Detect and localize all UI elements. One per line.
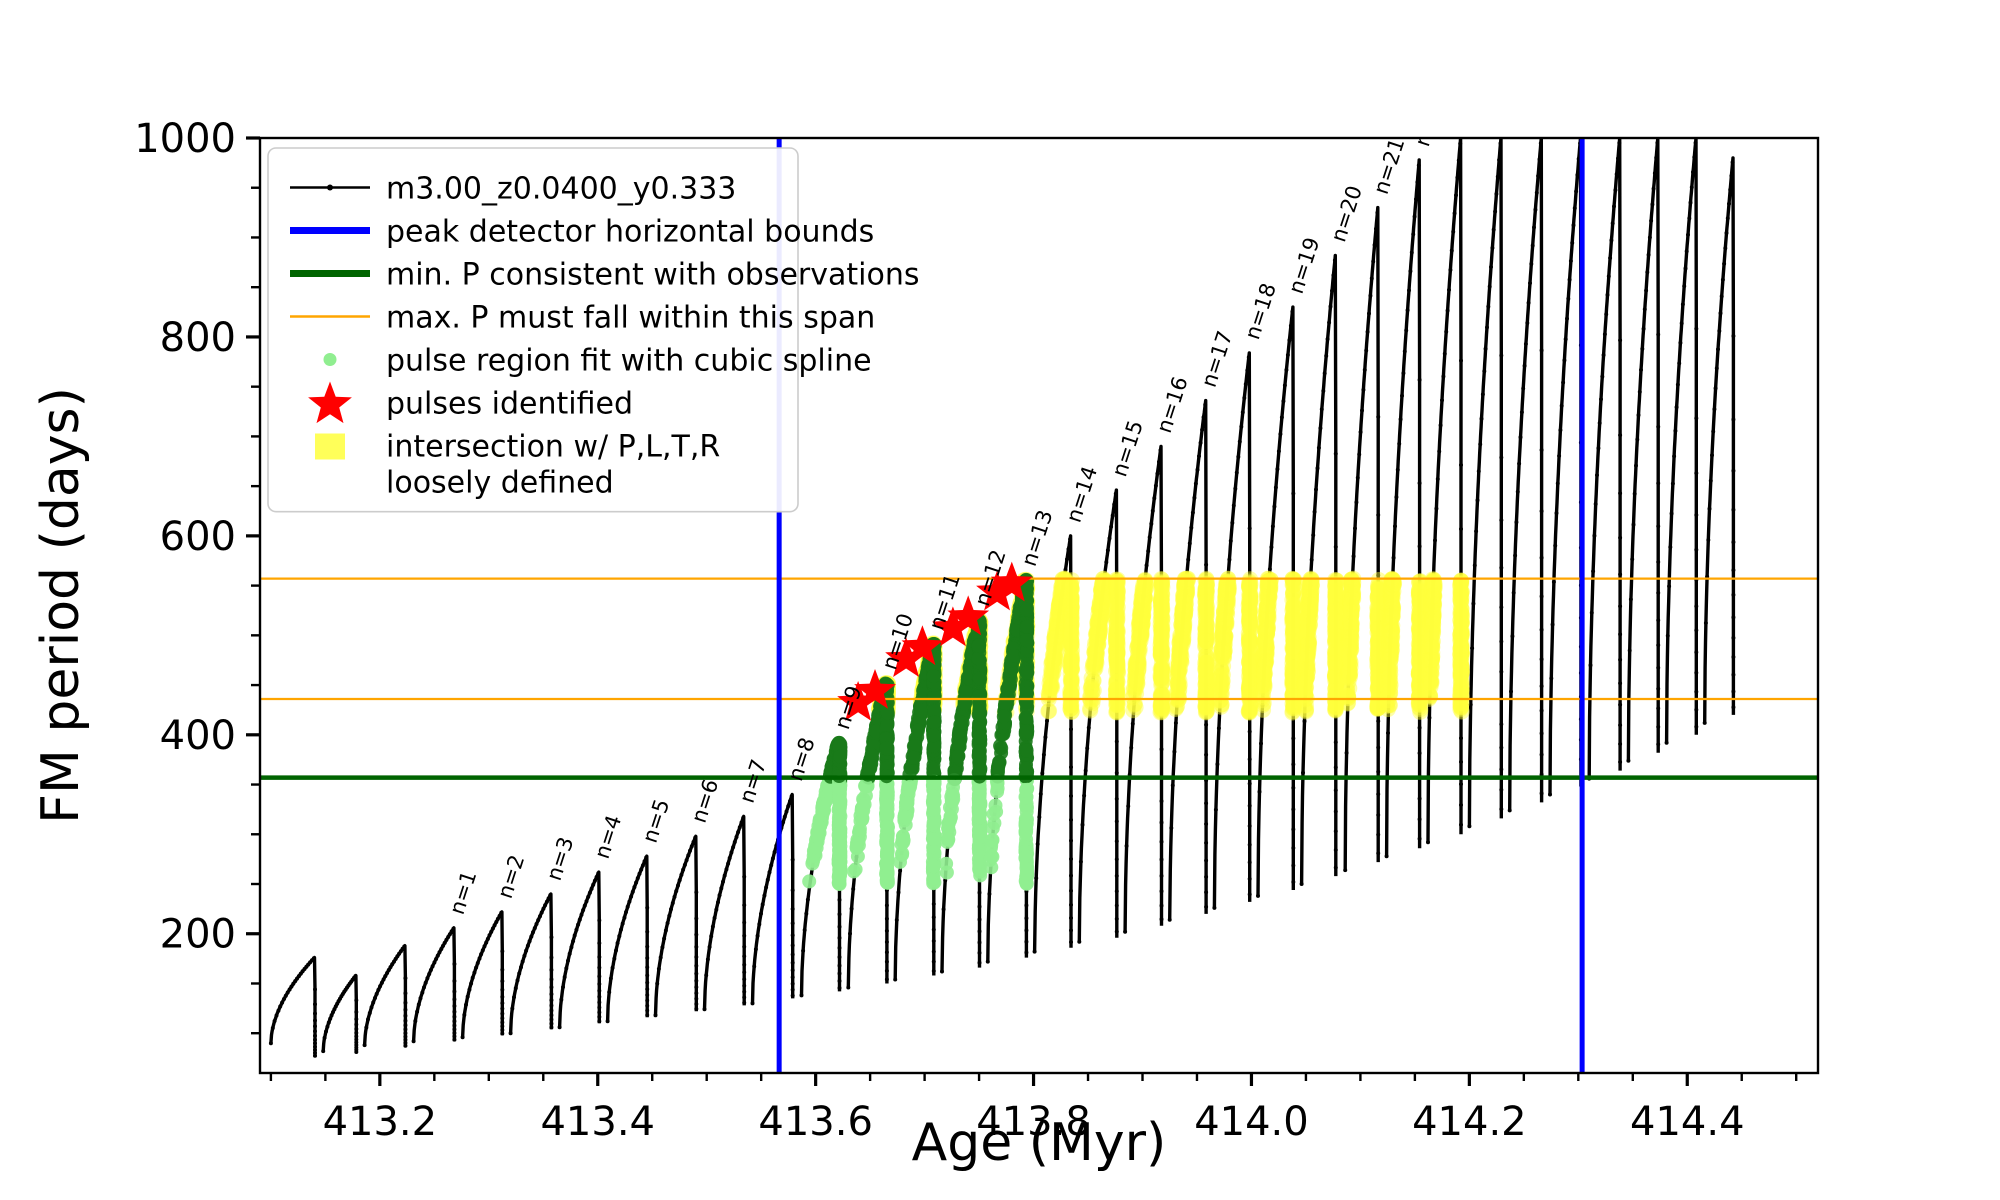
track-marker (1512, 591, 1516, 595)
track-marker (742, 875, 746, 879)
track-marker (1115, 889, 1119, 893)
track-marker (1418, 751, 1422, 755)
track-marker (452, 1019, 456, 1023)
track-marker (1248, 860, 1252, 864)
track-marker (549, 935, 553, 939)
track-marker (1410, 251, 1414, 255)
track-marker (1499, 640, 1503, 644)
track-marker (1069, 889, 1073, 893)
track-marker (1536, 174, 1540, 178)
track-marker (1499, 605, 1503, 609)
track-marker (1459, 527, 1463, 531)
track-marker (1656, 618, 1660, 622)
track-marker (1649, 219, 1653, 223)
track-marker (838, 946, 842, 950)
track-marker (1248, 757, 1252, 761)
track-marker (703, 1007, 707, 1011)
track-marker (1569, 259, 1573, 263)
track-marker (1363, 368, 1367, 372)
track-marker (1721, 278, 1725, 282)
yellow-point (1108, 693, 1124, 709)
track-marker (1609, 238, 1613, 242)
track-marker (1551, 623, 1555, 627)
track-marker (1716, 347, 1720, 351)
track-marker (1248, 804, 1252, 808)
track-marker (1275, 467, 1279, 471)
track-marker (1291, 786, 1295, 790)
track-marker (452, 1004, 456, 1008)
track-marker (622, 916, 626, 920)
track-marker (1731, 655, 1735, 659)
track-marker (768, 870, 772, 874)
track-marker (1618, 572, 1622, 576)
track-marker (1393, 524, 1397, 528)
track-marker (1188, 541, 1192, 545)
track-marker (271, 1026, 275, 1030)
track-marker (1354, 500, 1358, 504)
track-marker (417, 1003, 421, 1007)
track-marker (535, 922, 539, 926)
track-marker (1191, 511, 1195, 515)
yellow-point (1298, 638, 1314, 654)
track-marker (932, 902, 936, 906)
track-marker (1656, 706, 1660, 710)
track-marker (752, 964, 756, 968)
track-marker (313, 987, 317, 991)
track-marker (655, 982, 659, 986)
track-marker (538, 914, 542, 918)
track-marker (1376, 513, 1380, 517)
track-marker (1123, 930, 1127, 934)
track-marker (838, 912, 842, 916)
track-marker (1281, 399, 1285, 403)
yellow-point (1303, 574, 1319, 590)
track-marker (1331, 273, 1335, 277)
track-marker (1652, 187, 1656, 191)
track-marker (1343, 868, 1347, 872)
track-marker (791, 975, 795, 979)
track-marker (533, 926, 537, 930)
track-marker (1427, 716, 1431, 720)
track-marker (403, 991, 407, 995)
track-marker (1694, 513, 1698, 517)
track-marker (452, 962, 456, 966)
track-marker (1451, 230, 1455, 234)
track-marker (1540, 657, 1544, 661)
track-marker (1731, 160, 1735, 164)
track-marker (1259, 742, 1263, 746)
track-marker (1278, 432, 1282, 436)
track-marker (1499, 788, 1503, 792)
track-marker (1499, 767, 1503, 771)
track-marker (427, 972, 431, 976)
track-marker (1145, 563, 1149, 567)
track-marker (1540, 448, 1544, 452)
track-marker (1194, 482, 1198, 486)
track-marker (790, 794, 794, 798)
track-marker (643, 859, 647, 863)
track-marker (1440, 398, 1444, 402)
yellow-point (1045, 654, 1061, 670)
track-marker (1370, 276, 1374, 280)
track-marker (476, 961, 480, 965)
track-marker (1043, 735, 1047, 739)
track-marker (706, 957, 710, 961)
track-marker (1618, 658, 1622, 662)
track-marker (1459, 359, 1463, 363)
yellow-point (1342, 586, 1358, 602)
track-marker (1069, 857, 1073, 861)
track-marker (517, 972, 521, 976)
track-marker (838, 898, 842, 902)
track-marker (617, 934, 621, 938)
track-marker (1656, 643, 1660, 647)
track-marker (740, 821, 744, 825)
track-marker (1490, 246, 1494, 250)
track-marker (1533, 208, 1537, 212)
track-marker (1160, 889, 1164, 893)
track-marker (466, 995, 470, 999)
track-marker (850, 907, 854, 911)
track-marker (1235, 471, 1239, 475)
track-marker (500, 1012, 504, 1016)
track-marker (1486, 305, 1490, 309)
track-marker (1152, 496, 1156, 500)
track-marker (512, 995, 516, 999)
track-marker (1214, 808, 1218, 812)
yellow-point (1109, 574, 1125, 590)
track-marker (1613, 188, 1617, 192)
track-marker (645, 973, 649, 977)
track-marker (898, 869, 902, 873)
track-marker (942, 907, 946, 911)
track-marker (885, 950, 889, 954)
track-marker (1418, 726, 1422, 730)
track-marker (1326, 337, 1330, 341)
track-marker (1413, 215, 1417, 219)
track-marker (1677, 361, 1681, 365)
track-marker (1596, 446, 1600, 450)
track-marker (1352, 554, 1356, 558)
yellow-point (1109, 589, 1125, 605)
track-marker (1394, 495, 1398, 499)
track-marker (657, 967, 661, 971)
track-marker (549, 985, 553, 989)
track-marker (597, 955, 601, 959)
track-marker (1069, 794, 1073, 798)
track-marker (424, 981, 428, 985)
track-marker (1204, 859, 1208, 863)
track-marker (1684, 267, 1688, 271)
track-marker (1286, 353, 1290, 357)
track-marker (713, 916, 717, 920)
yellow-point (1241, 614, 1257, 630)
yellow-point (1258, 635, 1274, 651)
yellow-point (1343, 638, 1359, 654)
track-marker (694, 1007, 698, 1011)
yellow-point (1198, 648, 1214, 664)
track-marker (606, 1019, 610, 1023)
track-marker (611, 966, 615, 970)
track-marker (1316, 466, 1320, 470)
track-marker (1115, 857, 1119, 861)
yellow-point (1341, 665, 1357, 681)
track-marker (1160, 917, 1164, 921)
track-marker (1520, 410, 1524, 414)
track-marker (1360, 409, 1364, 413)
track-marker (803, 928, 807, 932)
track-marker (1492, 228, 1496, 232)
track-marker (1204, 905, 1208, 909)
track-marker (1639, 368, 1643, 372)
track-marker (588, 891, 592, 895)
track-marker (403, 1023, 407, 1027)
track-marker (1694, 690, 1698, 694)
track-marker (645, 906, 649, 910)
track-marker (645, 1004, 649, 1008)
track-marker (1731, 673, 1735, 677)
track-marker (1654, 156, 1658, 160)
track-marker (742, 963, 746, 967)
yellow-point (1110, 623, 1126, 639)
track-marker (1719, 311, 1723, 315)
track-marker (1376, 770, 1380, 774)
track-marker (1068, 537, 1072, 541)
track-marker (885, 960, 889, 964)
track-marker (1656, 481, 1660, 485)
track-marker (1453, 211, 1457, 215)
track-marker (1459, 782, 1463, 786)
track-marker (1330, 289, 1334, 293)
track-marker (1638, 390, 1642, 394)
track-marker (1640, 347, 1644, 351)
track-marker (1212, 906, 1216, 910)
track-marker (593, 879, 597, 883)
track-marker (1069, 727, 1073, 731)
yellow-point (1154, 618, 1170, 634)
track-marker (403, 1019, 407, 1023)
track-marker (1618, 536, 1622, 540)
track-marker (1477, 469, 1481, 473)
track-marker (1644, 289, 1648, 293)
track-marker (597, 982, 601, 986)
track-marker (370, 1005, 374, 1009)
track-marker (1411, 232, 1415, 236)
track-marker (1376, 415, 1380, 419)
track-marker (978, 941, 982, 945)
track-marker (1527, 301, 1531, 305)
track-marker (1433, 538, 1437, 542)
track-marker (471, 976, 475, 980)
track-marker (1434, 507, 1438, 511)
track-marker (1236, 455, 1240, 459)
track-marker (1204, 801, 1208, 805)
track-marker (590, 887, 594, 891)
track-marker (1404, 328, 1408, 332)
track-marker (415, 1010, 419, 1014)
track-marker (785, 810, 789, 814)
track-marker (1204, 563, 1208, 567)
track-marker (1437, 449, 1441, 453)
track-marker (978, 951, 982, 955)
yellow-point (1198, 668, 1214, 684)
yellow-point (1256, 680, 1272, 696)
track-marker (422, 985, 426, 989)
track-marker (1706, 538, 1710, 542)
track-marker (1204, 890, 1208, 894)
track-marker (1160, 904, 1164, 908)
yellow-point (1259, 598, 1275, 614)
track-marker (791, 933, 795, 937)
track-marker (595, 875, 599, 879)
track-marker (1656, 333, 1660, 337)
track-marker (354, 998, 358, 1002)
track-marker (932, 969, 936, 973)
track-marker (1289, 324, 1293, 328)
track-marker (1204, 875, 1208, 879)
track-marker (1403, 349, 1407, 353)
track-marker (885, 977, 889, 981)
track-marker (1232, 504, 1236, 508)
track-marker (1024, 903, 1028, 907)
track-marker (1694, 604, 1698, 608)
track-marker (694, 964, 698, 968)
yellow-point (1108, 643, 1124, 659)
track-marker (1538, 157, 1542, 161)
track-marker (733, 840, 737, 844)
track-marker (669, 907, 673, 911)
track-marker (1703, 721, 1707, 725)
track-marker (269, 1041, 273, 1045)
track-marker (514, 986, 518, 990)
track-marker (1408, 269, 1412, 273)
track-marker (1573, 206, 1577, 210)
track-marker (1439, 423, 1443, 427)
track-marker (1248, 877, 1252, 881)
track-marker (1457, 158, 1461, 162)
track-marker (462, 1013, 466, 1017)
track-marker (932, 915, 936, 919)
yellow-point (1284, 612, 1300, 628)
track-marker (838, 972, 842, 976)
track-marker (1248, 730, 1252, 734)
track-marker (1540, 556, 1544, 560)
yellow-point (1242, 637, 1258, 653)
yellow-point (1063, 598, 1079, 614)
track-marker (597, 1010, 601, 1014)
track-marker (1291, 827, 1295, 831)
track-marker (500, 1020, 504, 1024)
track-marker (1670, 512, 1674, 516)
track-marker (1418, 544, 1422, 548)
track-marker (1401, 371, 1405, 375)
track-marker (1499, 518, 1503, 522)
track-marker (645, 956, 649, 960)
track-marker (1539, 141, 1543, 145)
track-marker (1157, 460, 1161, 464)
track-marker (1172, 750, 1176, 754)
track-marker (1496, 175, 1500, 179)
track-marker (769, 863, 773, 867)
track-marker (378, 984, 382, 988)
track-marker (1106, 548, 1110, 552)
track-marker (1595, 473, 1599, 477)
track-marker (1065, 557, 1069, 561)
track-marker (500, 1001, 504, 1005)
track-marker (1510, 634, 1514, 638)
track-marker (321, 1049, 325, 1053)
track-marker (679, 873, 683, 877)
track-marker (1471, 602, 1475, 606)
track-marker (742, 945, 746, 949)
track-marker (673, 895, 677, 899)
track-marker (1313, 510, 1317, 514)
track-marker (1489, 265, 1493, 269)
track-marker (742, 954, 746, 958)
track-marker (521, 959, 525, 963)
track-marker (1069, 874, 1073, 878)
track-marker (1712, 407, 1716, 411)
yellow-point (1215, 644, 1231, 660)
track-marker (1248, 843, 1252, 847)
yellow-point (1088, 650, 1104, 666)
track-marker (1540, 731, 1544, 735)
track-marker (578, 918, 582, 922)
track-marker (1248, 526, 1252, 530)
track-marker (1653, 171, 1657, 175)
track-marker (1444, 330, 1448, 334)
track-marker (659, 955, 663, 959)
track-marker (897, 890, 901, 894)
track-marker (1334, 545, 1338, 549)
track-marker (626, 905, 630, 909)
track-marker (1034, 876, 1038, 880)
track-marker (1618, 433, 1622, 437)
track-marker (932, 950, 936, 954)
track-marker (583, 904, 587, 908)
track-marker (1618, 703, 1622, 707)
track-marker (452, 1038, 456, 1042)
track-marker (719, 886, 723, 890)
track-marker (645, 965, 649, 969)
track-marker (609, 977, 613, 981)
yellow-point (1243, 592, 1259, 608)
track-marker (694, 1002, 698, 1006)
track-marker (371, 1001, 375, 1005)
track-marker (469, 982, 473, 986)
track-marker (1540, 709, 1544, 713)
yellow-point (1154, 661, 1170, 677)
track-marker (1629, 597, 1633, 601)
track-marker (1356, 476, 1360, 480)
track-marker (838, 936, 842, 940)
yellow-point (1218, 584, 1234, 600)
track-marker (1300, 882, 1304, 886)
track-marker (1517, 462, 1521, 466)
yellow-point (1064, 648, 1080, 664)
track-marker (531, 930, 535, 934)
yellow-point (1300, 610, 1316, 626)
track-marker (1274, 486, 1278, 490)
yellow-point (1091, 615, 1107, 631)
track-marker (1561, 381, 1565, 385)
track-marker (354, 1031, 358, 1035)
track-marker (1694, 416, 1698, 420)
track-marker (1562, 358, 1566, 362)
track-marker (940, 970, 944, 974)
track-marker (596, 871, 600, 875)
track-marker (1553, 544, 1557, 548)
